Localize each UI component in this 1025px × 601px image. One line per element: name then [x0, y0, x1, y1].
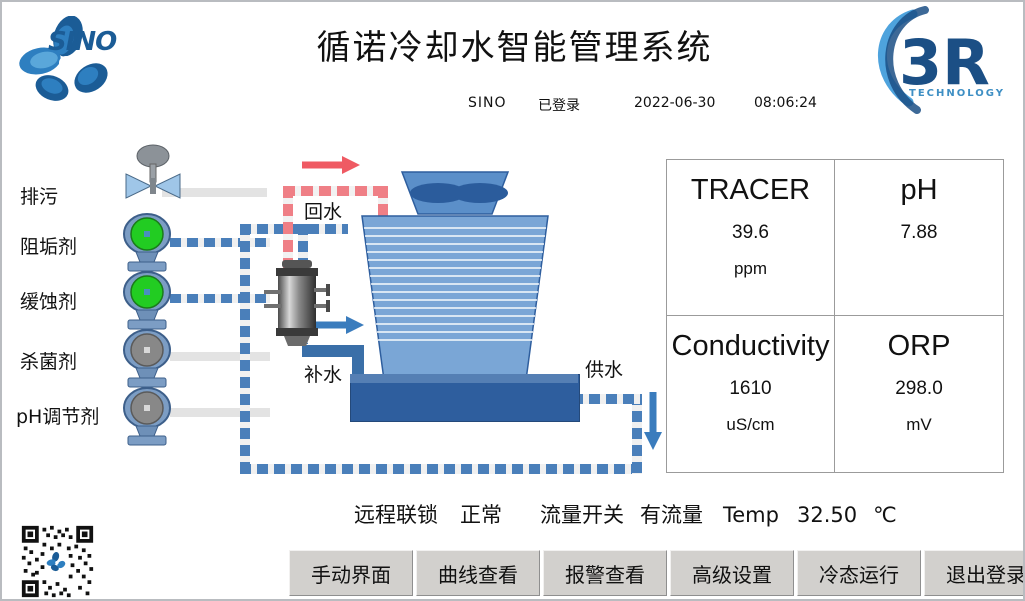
- measurement-value: 39.6: [732, 222, 769, 244]
- measurement-value: 298.0: [895, 378, 943, 400]
- login-status: 已登录: [538, 95, 580, 115]
- equipment-label-antiscalant: 阻垢剂: [20, 232, 77, 259]
- 3r-technology-tagline: TECHNOLOGY: [909, 88, 1005, 99]
- system-date: 2022-06-30: [634, 95, 715, 111]
- dosing-pump-ph-adjuster[interactable]: [120, 386, 174, 448]
- logout-button[interactable]: 退出登录: [924, 550, 1025, 596]
- remote-interlock-label: 远程联锁: [354, 499, 438, 529]
- blowdown-valve[interactable]: [122, 144, 184, 204]
- dosing-pump-inhibitor[interactable]: [120, 270, 174, 332]
- page-title: 循诺冷却水智能管理系统: [2, 20, 1025, 69]
- flow-switch-label: 流量开关: [540, 499, 624, 529]
- pipe-loop-bottom: [240, 464, 642, 474]
- flow-switch-value: 有流量: [640, 499, 703, 529]
- measurement-panel: TRACER 39.6 ppm pH 7.88 Conductivity 161…: [666, 159, 1004, 473]
- pipe-dose-biocide: [170, 352, 270, 361]
- manual-interface-button[interactable]: 手动界面: [289, 550, 413, 596]
- flow-label-makeup-water: 补水: [304, 360, 342, 387]
- measurement-value: 1610: [729, 378, 771, 400]
- measurement-cell-orp: ORP 298.0 mV: [835, 316, 1003, 472]
- application-window: SINO 3R TECHNOLOGY 循诺冷却水智能管理系统 SINO 已登录 …: [0, 0, 1025, 601]
- logged-in-user: SINO: [468, 95, 507, 111]
- measurement-unit: ppm: [734, 259, 767, 279]
- pipe-loop-top: [240, 224, 348, 234]
- equipment-label-blowdown: 排污: [20, 182, 58, 209]
- equipment-label-biocide: 杀菌剂: [20, 347, 77, 374]
- measurement-cell-ph: pH 7.88: [835, 160, 1003, 316]
- trend-view-button[interactable]: 曲线查看: [416, 550, 540, 596]
- water-quality-analyzer: [264, 254, 336, 350]
- measurement-value: 7.88: [901, 222, 938, 244]
- pipe-dose-inhibitor: [170, 294, 270, 303]
- equipment-label-ph-adjuster: pH调节剂: [16, 402, 99, 429]
- measurement-unit: mV: [906, 415, 932, 435]
- measurement-cell-tracer: TRACER 39.6 ppm: [667, 160, 835, 316]
- advanced-settings-button[interactable]: 高级设置: [670, 550, 794, 596]
- flow-label-return-water: 回水: [304, 197, 342, 224]
- basin-waterline: [350, 374, 578, 383]
- button-bar: 手动界面 曲线查看 报警查看 高级设置 冷态运行 退出登录: [289, 550, 1025, 596]
- qr-code: [6, 524, 109, 599]
- equipment-label-inhibitor: 缓蚀剂: [20, 287, 77, 314]
- measurement-cell-conductivity: Conductivity 1610 uS/cm: [667, 316, 835, 472]
- pipe-loop-right-riser: [632, 394, 642, 474]
- cold-start-button[interactable]: 冷态运行: [797, 550, 921, 596]
- pipe-dose-antiscalant: [170, 238, 270, 247]
- measurement-name: Conductivity: [672, 328, 830, 364]
- dosing-pump-antiscalant[interactable]: [120, 212, 174, 274]
- system-time: 08:06:24: [754, 95, 817, 111]
- temp-unit: ℃: [873, 503, 897, 527]
- dosing-pump-biocide[interactable]: [120, 328, 174, 390]
- measurement-name: TRACER: [691, 172, 810, 208]
- measurement-name: pH: [900, 172, 937, 208]
- arrow-supply-flow: [642, 392, 664, 452]
- temp-value: 32.50: [797, 503, 857, 527]
- temp-label: Temp: [723, 503, 779, 527]
- remote-interlock-value: 正常: [460, 499, 502, 529]
- pipe-loop-left-riser: [240, 224, 250, 474]
- status-bar: 远程联锁 正常 流量开关 有流量 Temp 32.50 ℃: [354, 499, 897, 529]
- flow-label-supply-water: 供水: [585, 355, 623, 382]
- alarm-view-button[interactable]: 报警查看: [543, 550, 667, 596]
- pipe-dose-ph: [170, 408, 270, 417]
- measurement-unit: uS/cm: [726, 415, 774, 435]
- measurement-name: ORP: [888, 328, 951, 364]
